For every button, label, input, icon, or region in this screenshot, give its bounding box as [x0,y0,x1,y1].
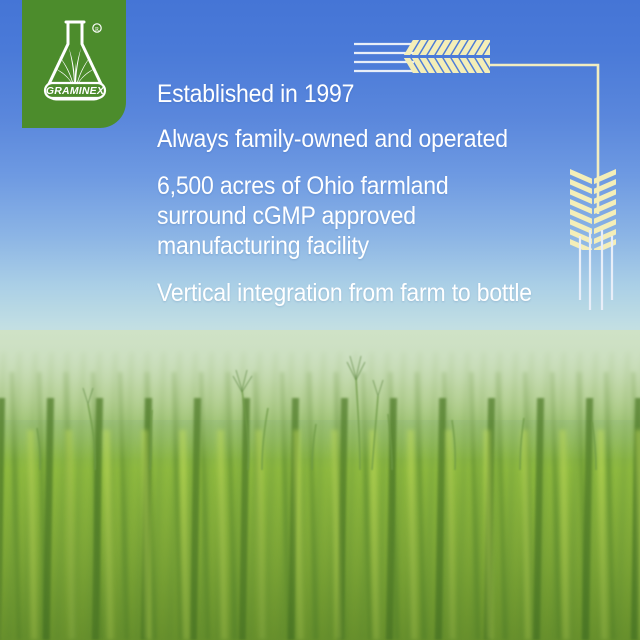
copy-line-acres-facility: 6,500 acres of Ohio farmland surround cG… [157,171,562,261]
headline-copy-block: Established in 1997 Always family-owned … [157,79,597,308]
svg-text:GRAMINEX: GRAMINEX [46,85,105,97]
copy-line-family-owned: Always family-owned and operated [157,124,562,154]
graminex-wordmark: GRAMINEX [45,83,105,98]
graminex-flask-logo-icon: R GRAMINEX [35,14,115,114]
field-bottom-shading [0,470,640,640]
field-tall-sprigs [0,330,640,470]
graminex-logo-panel[interactable]: R GRAMINEX [22,0,126,128]
infographic-canvas: R GRAMINEX Established in 1997 Always fa… [0,0,640,640]
svg-text:R: R [95,27,99,33]
copy-line-established: Established in 1997 [157,79,562,109]
copy-line-vertical-integration: Vertical integration from farm to bottle [157,278,562,308]
registered-trademark-icon: R [93,24,101,33]
